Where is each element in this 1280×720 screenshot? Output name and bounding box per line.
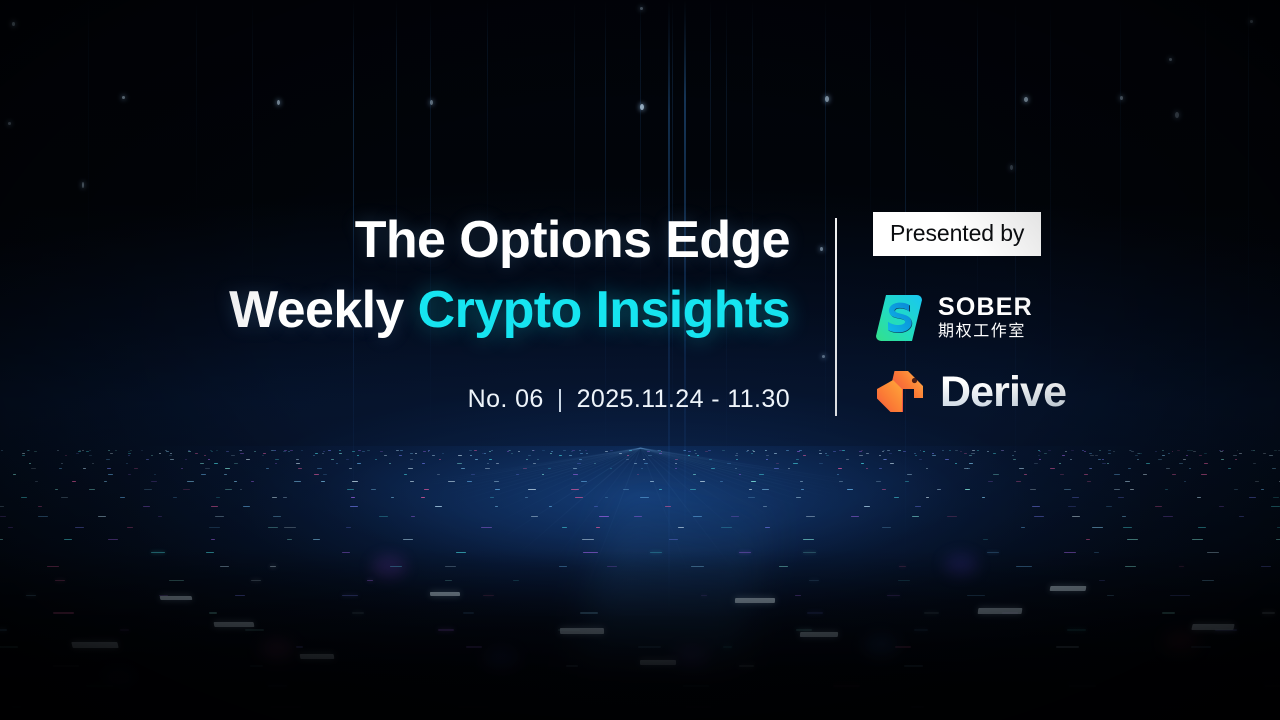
sober-s-mark-icon xyxy=(873,292,925,344)
headline-line-1: The Options Edge xyxy=(120,205,790,275)
derive-wordmark: Derive xyxy=(940,368,1066,416)
headline-line-2-white: Weekly xyxy=(229,281,418,339)
headline-line-2: Weekly Crypto Insights xyxy=(120,275,790,345)
meta-separator: | xyxy=(557,385,564,414)
headline-line-2-accent: Crypto Insights xyxy=(418,281,790,339)
poster-canvas: The Options Edge Weekly Crypto Insights … xyxy=(0,0,1280,720)
derive-logo[interactable]: Derive xyxy=(873,368,1066,416)
issue-date-range: 2025.11.24 - 11.30 xyxy=(577,385,790,413)
issue-meta: No. 06|2025.11.24 - 11.30 xyxy=(120,385,790,414)
brand-column: Presented by xyxy=(873,212,1203,256)
headline-block: The Options Edge Weekly Crypto Insights xyxy=(120,205,790,345)
sober-subtitle-cn: 期权工作室 xyxy=(938,321,1033,342)
sober-wordmark: SOBER 期权工作室 xyxy=(938,294,1033,342)
presented-by-badge: Presented by xyxy=(873,212,1041,256)
sober-logo[interactable]: SOBER 期权工作室 xyxy=(873,292,1033,344)
derive-horse-mark-icon xyxy=(873,368,927,416)
issue-number: No. 06 xyxy=(468,385,544,413)
vertical-divider xyxy=(835,218,837,416)
sober-name: SOBER xyxy=(938,294,1033,320)
